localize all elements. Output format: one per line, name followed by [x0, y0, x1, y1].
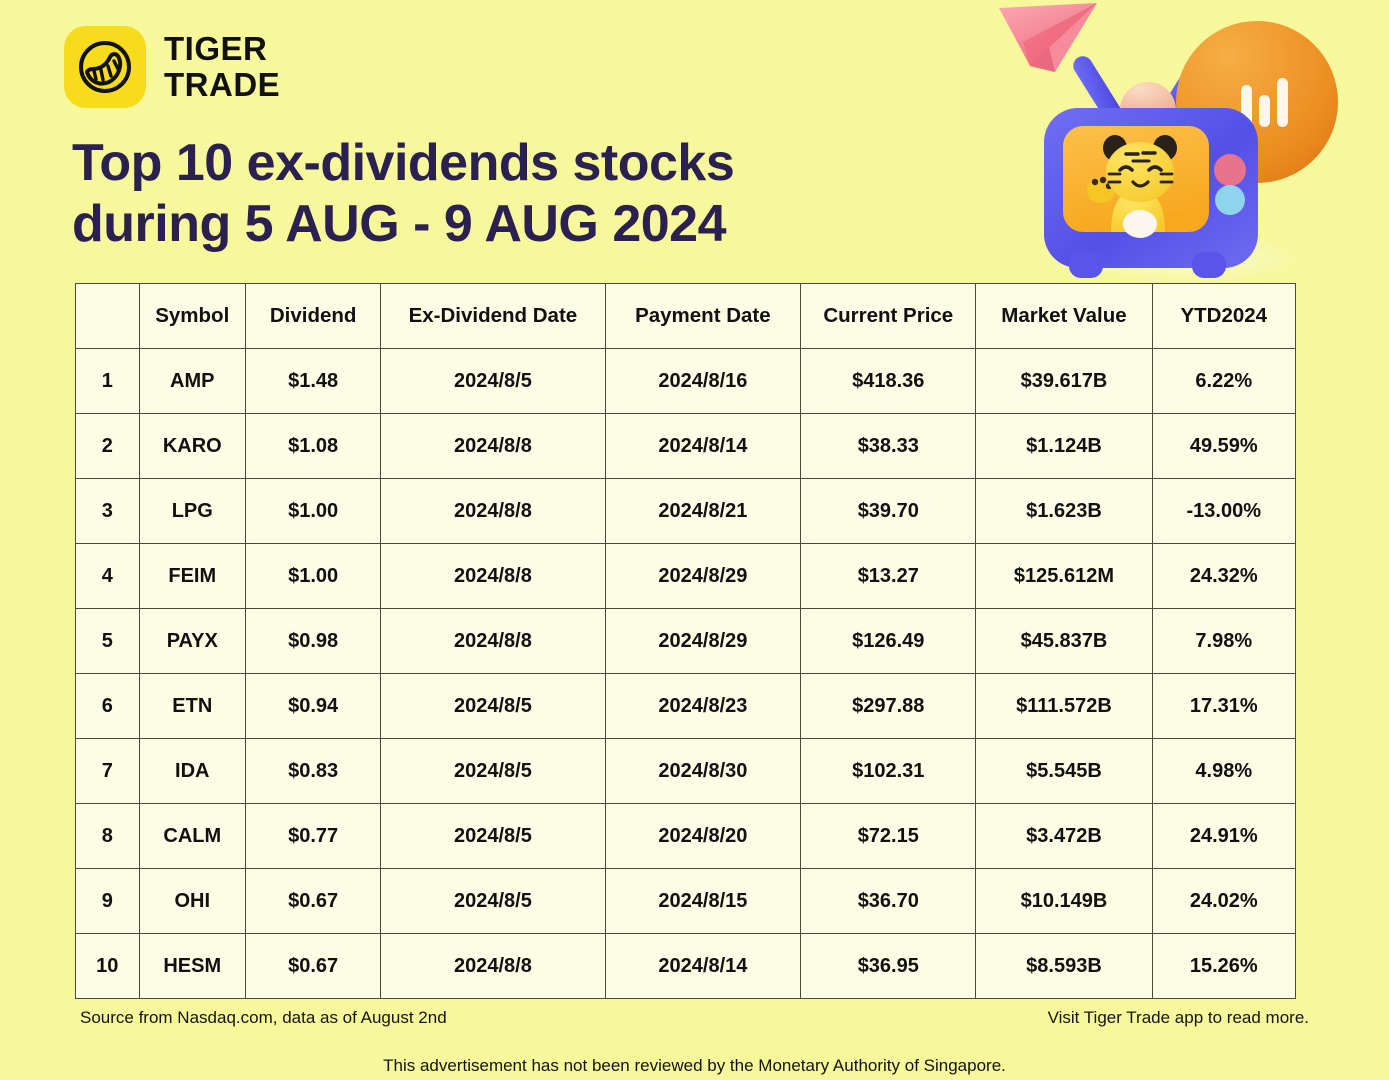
ytd2024-cell: 17.31%	[1152, 674, 1295, 739]
dividend-cell: $0.94	[246, 674, 381, 739]
dividend-cell: $1.48	[246, 349, 381, 414]
symbol-cell: LPG	[139, 479, 246, 544]
page-title-line1: Top 10 ex-dividends stocks	[72, 133, 734, 194]
rank-cell: 2	[76, 414, 140, 479]
symbol-cell: IDA	[139, 739, 246, 804]
column-header-ytd2024: YTD2024	[1152, 284, 1295, 349]
table-row: 1AMP$1.482024/8/52024/8/16$418.36$39.617…	[76, 349, 1296, 414]
symbol-cell: HESM	[139, 934, 246, 999]
market-value-cell: $45.837B	[976, 609, 1152, 674]
ytd2024-cell: 24.02%	[1152, 869, 1295, 934]
market-value-cell: $8.593B	[976, 934, 1152, 999]
dividend-cell: $0.98	[246, 609, 381, 674]
table-row: 10HESM$0.672024/8/82024/8/14$36.95$8.593…	[76, 934, 1296, 999]
table-row: 9OHI$0.672024/8/52024/8/15$36.70$10.149B…	[76, 869, 1296, 934]
dividend-cell: $0.67	[246, 934, 381, 999]
market-value-cell: $10.149B	[976, 869, 1152, 934]
market-value-cell: $1.124B	[976, 414, 1152, 479]
footer-source: Source from Nasdaq.com, data as of Augus…	[80, 1008, 447, 1028]
symbol-cell: FEIM	[139, 544, 246, 609]
dividend-cell: $1.00	[246, 479, 381, 544]
ex-dividend-date-cell: 2024/8/5	[381, 869, 605, 934]
table-row: 5PAYX$0.982024/8/82024/8/29$126.49$45.83…	[76, 609, 1296, 674]
market-value-cell: $39.617B	[976, 349, 1152, 414]
ex-dividend-date-cell: 2024/8/5	[381, 349, 605, 414]
brand-name-line1: TIGER	[164, 31, 280, 67]
ytd2024-cell: 24.32%	[1152, 544, 1295, 609]
dividend-cell: $0.67	[246, 869, 381, 934]
symbol-cell: OHI	[139, 869, 246, 934]
ytd2024-cell: 4.98%	[1152, 739, 1295, 804]
rank-cell: 7	[76, 739, 140, 804]
dividends-table-container: Symbol Dividend Ex-Dividend Date Payment…	[75, 283, 1296, 999]
table-header-row: Symbol Dividend Ex-Dividend Date Payment…	[76, 284, 1296, 349]
symbol-cell: CALM	[139, 804, 246, 869]
ytd2024-cell: 49.59%	[1152, 414, 1295, 479]
brand-name: TIGER TRADE	[164, 31, 280, 102]
table-body: 1AMP$1.482024/8/52024/8/16$418.36$39.617…	[76, 349, 1296, 999]
ytd2024-cell: 15.26%	[1152, 934, 1295, 999]
payment-date-cell: 2024/8/29	[605, 544, 801, 609]
ex-dividend-date-cell: 2024/8/8	[381, 479, 605, 544]
current-price-cell: $126.49	[801, 609, 976, 674]
ex-dividend-date-cell: 2024/8/8	[381, 609, 605, 674]
ex-dividend-date-cell: 2024/8/5	[381, 674, 605, 739]
page-title: Top 10 ex-dividends stocks during 5 AUG …	[72, 133, 734, 256]
ex-dividend-date-cell: 2024/8/5	[381, 739, 605, 804]
column-header-symbol: Symbol	[139, 284, 246, 349]
current-price-cell: $36.70	[801, 869, 976, 934]
rank-cell: 3	[76, 479, 140, 544]
symbol-cell: PAYX	[139, 609, 246, 674]
current-price-cell: $297.88	[801, 674, 976, 739]
ex-dividend-date-cell: 2024/8/5	[381, 804, 605, 869]
rank-cell: 1	[76, 349, 140, 414]
market-value-cell: $111.572B	[976, 674, 1152, 739]
current-price-cell: $38.33	[801, 414, 976, 479]
footer-disclaimer: This advertisement has not been reviewed…	[0, 1056, 1389, 1076]
table-row: 2KARO$1.082024/8/82024/8/14$38.33$1.124B…	[76, 414, 1296, 479]
hero-illustration	[985, 0, 1389, 285]
rank-cell: 8	[76, 804, 140, 869]
footer-cta[interactable]: Visit Tiger Trade app to read more.	[1048, 1008, 1309, 1028]
table-row: 7IDA$0.832024/8/52024/8/30$102.31$5.545B…	[76, 739, 1296, 804]
column-header-market-value: Market Value	[976, 284, 1152, 349]
dividend-cell: $0.83	[246, 739, 381, 804]
market-value-cell: $125.612M	[976, 544, 1152, 609]
tiger-coin-logo-icon	[64, 26, 146, 108]
payment-date-cell: 2024/8/23	[605, 674, 801, 739]
market-value-cell: $1.623B	[976, 479, 1152, 544]
current-price-cell: $36.95	[801, 934, 976, 999]
dividends-table: Symbol Dividend Ex-Dividend Date Payment…	[75, 283, 1296, 999]
current-price-cell: $418.36	[801, 349, 976, 414]
symbol-cell: KARO	[139, 414, 246, 479]
symbol-cell: AMP	[139, 349, 246, 414]
rank-cell: 6	[76, 674, 140, 739]
ytd2024-cell: 6.22%	[1152, 349, 1295, 414]
payment-date-cell: 2024/8/29	[605, 609, 801, 674]
payment-date-cell: 2024/8/16	[605, 349, 801, 414]
table-row: 4FEIM$1.002024/8/82024/8/29$13.27$125.61…	[76, 544, 1296, 609]
ex-dividend-date-cell: 2024/8/8	[381, 934, 605, 999]
payment-date-cell: 2024/8/21	[605, 479, 801, 544]
page-title-line2: during 5 AUG - 9 AUG 2024	[72, 194, 734, 255]
footer: Source from Nasdaq.com, data as of Augus…	[0, 1008, 1389, 1076]
column-header-ex-dividend-date: Ex-Dividend Date	[381, 284, 605, 349]
column-header-current-price: Current Price	[801, 284, 976, 349]
table-row: 8CALM$0.772024/8/52024/8/20$72.15$3.472B…	[76, 804, 1296, 869]
rank-cell: 5	[76, 609, 140, 674]
symbol-cell: ETN	[139, 674, 246, 739]
payment-date-cell: 2024/8/14	[605, 414, 801, 479]
ytd2024-cell: 24.91%	[1152, 804, 1295, 869]
current-price-cell: $13.27	[801, 544, 976, 609]
rank-cell: 9	[76, 869, 140, 934]
dividend-cell: $0.77	[246, 804, 381, 869]
rank-cell: 4	[76, 544, 140, 609]
brand-header: TIGER TRADE	[64, 26, 280, 108]
ytd2024-cell: -13.00%	[1152, 479, 1295, 544]
payment-date-cell: 2024/8/30	[605, 739, 801, 804]
ex-dividend-date-cell: 2024/8/8	[381, 544, 605, 609]
current-price-cell: $72.15	[801, 804, 976, 869]
table-row: 3LPG$1.002024/8/82024/8/21$39.70$1.623B-…	[76, 479, 1296, 544]
rank-cell: 10	[76, 934, 140, 999]
market-value-cell: $3.472B	[976, 804, 1152, 869]
current-price-cell: $102.31	[801, 739, 976, 804]
payment-date-cell: 2024/8/20	[605, 804, 801, 869]
ytd2024-cell: 7.98%	[1152, 609, 1295, 674]
dividend-cell: $1.08	[246, 414, 381, 479]
current-price-cell: $39.70	[801, 479, 976, 544]
column-header-rank	[76, 284, 140, 349]
column-header-payment-date: Payment Date	[605, 284, 801, 349]
payment-date-cell: 2024/8/14	[605, 934, 801, 999]
brand-name-line2: TRADE	[164, 67, 280, 103]
ex-dividend-date-cell: 2024/8/8	[381, 414, 605, 479]
table-row: 6ETN$0.942024/8/52024/8/23$297.88$111.57…	[76, 674, 1296, 739]
dividend-cell: $1.00	[246, 544, 381, 609]
payment-date-cell: 2024/8/15	[605, 869, 801, 934]
column-header-dividend: Dividend	[246, 284, 381, 349]
market-value-cell: $5.545B	[976, 739, 1152, 804]
